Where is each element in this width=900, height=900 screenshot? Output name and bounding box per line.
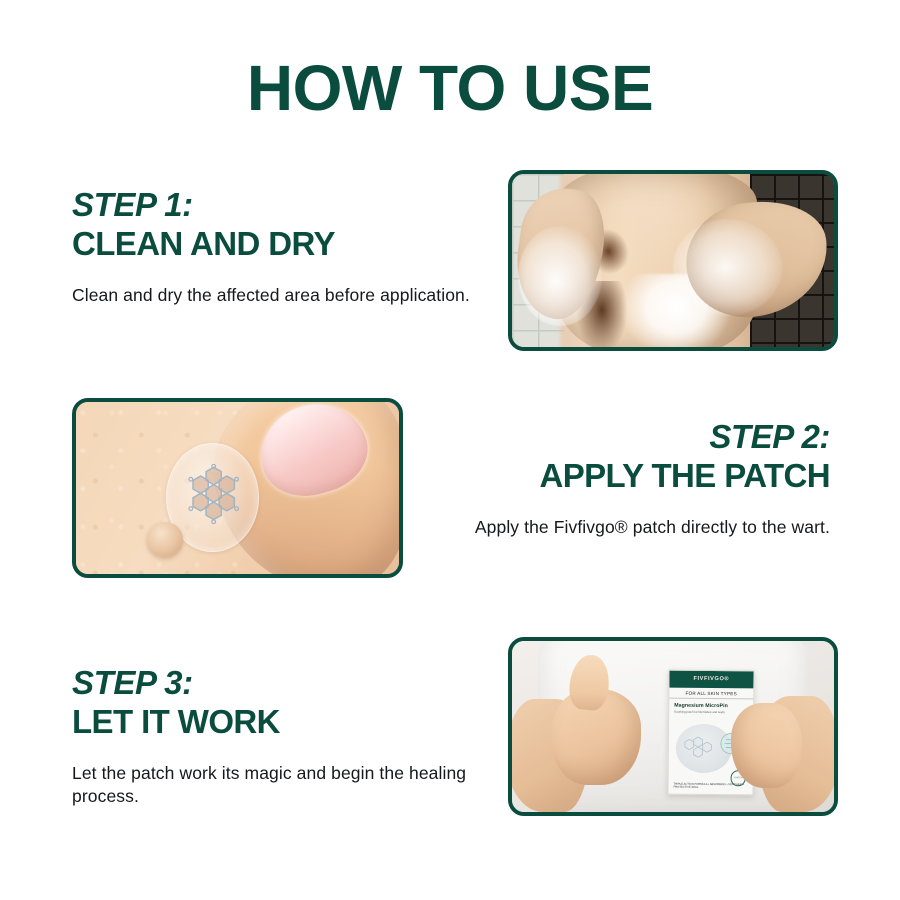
step-3-heading: LET IT WORK <box>72 702 502 742</box>
step-2-photo-frame <box>72 398 403 578</box>
step-1-body: Clean and dry the affected area before a… <box>72 284 472 307</box>
step-3-photo-frame: FIVFIVGO® FOR ALL SKIN TYPES Magnesium M… <box>508 637 838 816</box>
step-3-kicker: STEP 3: <box>72 664 502 702</box>
page-title: HOW TO USE <box>0 52 900 124</box>
washing-torso-with-soap-photo <box>512 174 834 347</box>
product-skin-types: FOR ALL SKIN TYPES <box>669 687 753 699</box>
how-to-use-infographic: HOW TO USE STEP 1: CLEAN AND DRY Clean a… <box>0 0 900 900</box>
hexagon-grid-icon <box>183 464 244 529</box>
step-2-heading: APPLY THE PATCH <box>470 456 830 496</box>
wart-bump <box>147 522 183 556</box>
patch-applied-to-skin-photo <box>76 402 399 574</box>
step-1-kicker: STEP 1: <box>72 186 472 224</box>
step-2-body: Apply the Fivfivgo® patch directly to th… <box>470 516 830 539</box>
right-hand-foam <box>673 219 782 316</box>
product-name: Magnesium MicroPin <box>669 699 753 711</box>
left-hand-foam <box>518 226 602 326</box>
step-2-text-block: STEP 2: APPLY THE PATCH Apply the Fivfiv… <box>470 418 830 539</box>
product-seal-label: 1 PATCH <box>734 777 743 779</box>
thumbs-up-holding-product-photo: FIVFIVGO® FOR ALL SKIN TYPES Magnesium M… <box>512 641 834 812</box>
step-3-body: Let the patch work its magic and begin t… <box>72 762 502 808</box>
step-1-heading: CLEAN AND DRY <box>72 224 472 264</box>
product-brand: FIVFIVGO® <box>670 671 754 688</box>
step-2-kicker: STEP 2: <box>470 418 830 456</box>
step-1-photo-frame <box>508 170 838 351</box>
step-3-text-block: STEP 3: LET IT WORK Let the patch work i… <box>72 664 502 808</box>
honeycomb-micropin-array <box>183 464 244 529</box>
right-hand-holding-product <box>731 703 802 789</box>
step-1-text-block: STEP 1: CLEAN AND DRY Clean and dry the … <box>72 186 472 307</box>
